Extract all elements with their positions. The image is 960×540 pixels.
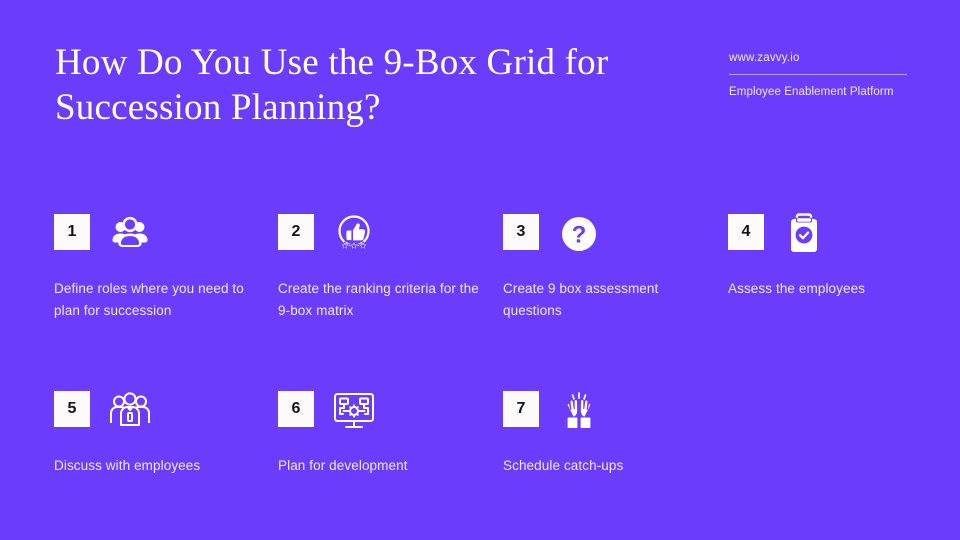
brand-block: www.zavvy.io Employee Enablement Platfor… [729, 50, 909, 100]
step-label: Discuss with employees [54, 455, 269, 477]
step-header: 5 [54, 391, 269, 441]
people-group-icon [106, 210, 154, 258]
page-title: How Do You Use the 9-Box Grid for Succes… [55, 40, 675, 130]
step-number-badge: 7 [503, 391, 539, 427]
step-item-7: 7 Schedule catch-ups [503, 391, 718, 477]
raised-hands-icon [555, 387, 603, 435]
monitor-gear-workflow-icon [330, 387, 378, 435]
brand-url: www.zavvy.io [729, 50, 909, 66]
step-number-badge: 2 [278, 214, 314, 250]
step-label: Schedule catch-ups [503, 455, 718, 477]
step-label: Define roles where you need to plan for … [54, 278, 269, 321]
step-item-2: 2 [278, 214, 493, 321]
question-mark-circle-icon: ? [555, 210, 603, 258]
brand-tagline: Employee Enablement Platform [729, 85, 909, 100]
step-item-1: 1 Define roles where you need to plan fo… [54, 214, 269, 321]
step-header: 4 [728, 214, 943, 264]
step-item-4: 4 Assess the employees [728, 214, 943, 300]
svg-text:?: ? [572, 222, 587, 249]
clipboard-check-icon [780, 210, 828, 258]
step-number-badge: 5 [54, 391, 90, 427]
step-header: 2 [278, 214, 493, 264]
step-header: 1 [54, 214, 269, 264]
step-header: 6 [278, 391, 493, 441]
team-discussion-icon [106, 387, 154, 435]
slide-canvas: How Do You Use the 9-Box Grid for Succes… [0, 0, 960, 540]
step-number-badge: 6 [278, 391, 314, 427]
step-label: Plan for development [278, 455, 493, 477]
step-number-badge: 4 [728, 214, 764, 250]
step-label: Create 9 box assessment questions [503, 278, 718, 321]
brand-divider [729, 74, 907, 75]
step-item-3: 3 ? Create 9 box assessment questions [503, 214, 718, 321]
step-label: Assess the employees [728, 278, 943, 300]
step-number-badge: 3 [503, 214, 539, 250]
step-header: 7 [503, 391, 718, 441]
thumbs-up-stars-icon [330, 210, 378, 258]
step-item-6: 6 Plan for development [278, 391, 493, 477]
step-label: Create the ranking criteria for the 9-bo… [278, 278, 493, 321]
step-item-5: 5 Discuss with employees [54, 391, 269, 477]
step-number-badge: 1 [54, 214, 90, 250]
step-header: 3 ? [503, 214, 718, 264]
